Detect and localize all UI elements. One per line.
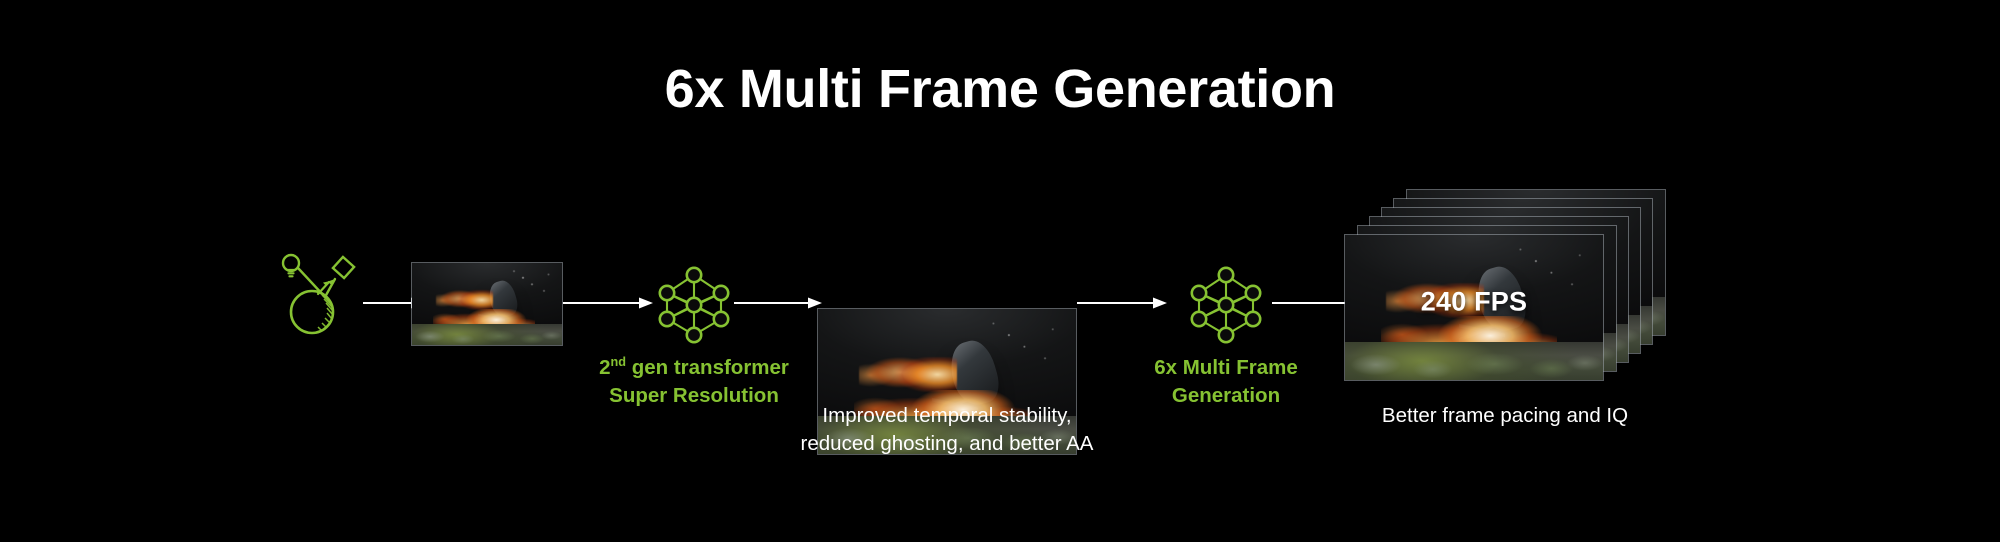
output-frame-stack: 240 FPS xyxy=(1345,190,1665,380)
caption-output-frames: Better frame pacing and IQ xyxy=(1290,402,1720,430)
arrow-right-icon-2 xyxy=(563,296,653,310)
ordinal-suffix: nd xyxy=(610,354,626,369)
neural-network-icon-frame-generation xyxy=(1185,263,1267,347)
label-mfg-line2: Generation xyxy=(1172,384,1280,407)
fps-badge: 240 FPS xyxy=(1345,286,1603,317)
pipeline-diagram: 2nd gen transformer Super Resolution Imp… xyxy=(0,0,2000,542)
input-game-frame xyxy=(412,263,562,345)
label-mfg-line1: 6x Multi Frame xyxy=(1154,356,1298,379)
stacked-frame-1-front: 240 FPS xyxy=(1345,235,1603,380)
ground-terrain xyxy=(412,324,562,345)
ground-terrain xyxy=(1345,342,1603,380)
game-scene-render xyxy=(412,263,562,345)
label-sr-line1: 2nd gen transformer xyxy=(599,356,789,379)
ray-tracing-icon xyxy=(278,252,358,336)
ray-tracing-icon-glyph xyxy=(278,252,358,336)
neural-network-icon-glyph xyxy=(1185,263,1267,347)
neural-network-icon-glyph xyxy=(653,263,735,347)
arrow-right-icon-4 xyxy=(1077,296,1167,310)
arrow-right-icon-3 xyxy=(734,296,822,310)
neural-network-icon-super-resolution xyxy=(653,263,735,347)
